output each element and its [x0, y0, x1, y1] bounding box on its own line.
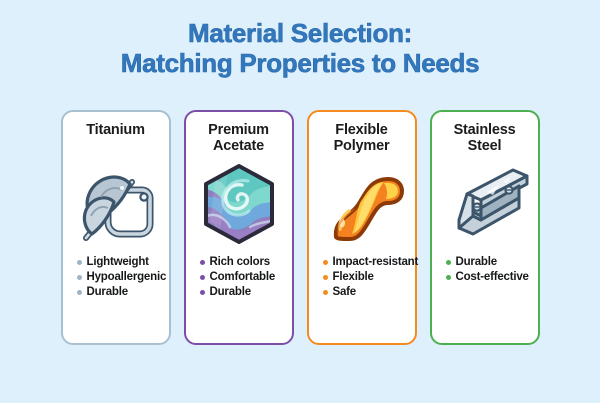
bullet-list-titanium: Lightweight Hypoallergenic Durable — [69, 256, 163, 301]
bullet-item: Lightweight — [77, 256, 163, 268]
bullet-item: Flexible — [323, 271, 409, 283]
card-title-flexible-polymer: Flexible Polymer — [334, 122, 390, 156]
card-title-premium-acetate: Premium Acetate — [208, 122, 269, 156]
bullet-dot-icon — [446, 260, 451, 265]
card-title-titanium: Titanium — [86, 122, 145, 156]
bullet-item: Durable — [77, 286, 163, 298]
bullet-dot-icon — [77, 290, 82, 295]
card-title-line-1: Flexible — [334, 122, 390, 138]
page-title: Material Selection: Matching Properties … — [0, 18, 600, 78]
card-title-stainless-steel: Stainless Steel — [454, 122, 516, 156]
card-title-line-2: Acetate — [208, 138, 269, 154]
bullet-label: Rich colors — [210, 256, 270, 268]
bullet-item: Impact-resistant — [323, 256, 409, 268]
swirled-hexagon-gem-icon — [191, 158, 287, 250]
bullet-label: Comfortable — [210, 271, 276, 283]
material-card-titanium[interactable]: Titanium Lightweight — [61, 110, 171, 345]
bullet-dot-icon — [200, 260, 205, 265]
bullet-item: Hypoallergenic — [77, 271, 163, 283]
bullet-list-flexible-polymer: Impact-resistant Flexible Safe — [315, 256, 409, 301]
bullet-item: Durable — [446, 256, 532, 268]
bullet-dot-icon — [446, 275, 451, 280]
bullet-list-premium-acetate: Rich colors Comfortable Durable — [192, 256, 286, 301]
bullet-item: Durable — [200, 286, 286, 298]
bullet-label: Flexible — [333, 271, 374, 283]
material-card-premium-acetate[interactable]: Premium Acetate — [184, 110, 294, 345]
bullet-item: Comfortable — [200, 271, 286, 283]
bullet-label: Lightweight — [87, 256, 149, 268]
bullet-label: Durable — [210, 286, 251, 298]
material-card-stainless-steel[interactable]: Stainless Steel — [430, 110, 540, 345]
bullet-label: Durable — [456, 256, 497, 268]
card-title-line-2: Polymer — [334, 138, 390, 154]
bullet-dot-icon — [200, 275, 205, 280]
card-title-line-1: Premium — [208, 122, 269, 138]
bullet-item: Safe — [323, 286, 409, 298]
bullet-dot-icon — [200, 290, 205, 295]
page-title-line-2: Matching Properties to Needs — [0, 48, 600, 78]
bullet-label: Impact-resistant — [333, 256, 419, 268]
material-card-flexible-polymer[interactable]: Flexible Polymer Impact-resistant Flexib… — [307, 110, 417, 345]
bullet-dot-icon — [77, 260, 82, 265]
bullet-label: Safe — [333, 286, 357, 298]
card-title-line-1: Titanium — [86, 122, 145, 138]
bent-flexible-tube-icon — [314, 158, 410, 250]
i-beam-icon — [437, 158, 533, 250]
bullet-item: Rich colors — [200, 256, 286, 268]
bullet-item: Cost-effective — [446, 271, 532, 283]
bullet-dot-icon — [323, 275, 328, 280]
bullet-dot-icon — [77, 275, 82, 280]
card-title-line-2: Steel — [454, 138, 516, 154]
feather-carabiner-icon — [68, 158, 164, 250]
bullet-dot-icon — [323, 290, 328, 295]
bullet-label: Hypoallergenic — [87, 271, 167, 283]
page-title-line-1: Material Selection: — [0, 18, 600, 48]
bullet-list-stainless-steel: Durable Cost-effective — [438, 256, 532, 286]
bullet-dot-icon — [323, 260, 328, 265]
card-title-line-1: Stainless — [454, 122, 516, 138]
bullet-label: Durable — [87, 286, 128, 298]
bullet-label: Cost-effective — [456, 271, 529, 283]
material-cards-row: Titanium Lightweight — [0, 110, 600, 350]
